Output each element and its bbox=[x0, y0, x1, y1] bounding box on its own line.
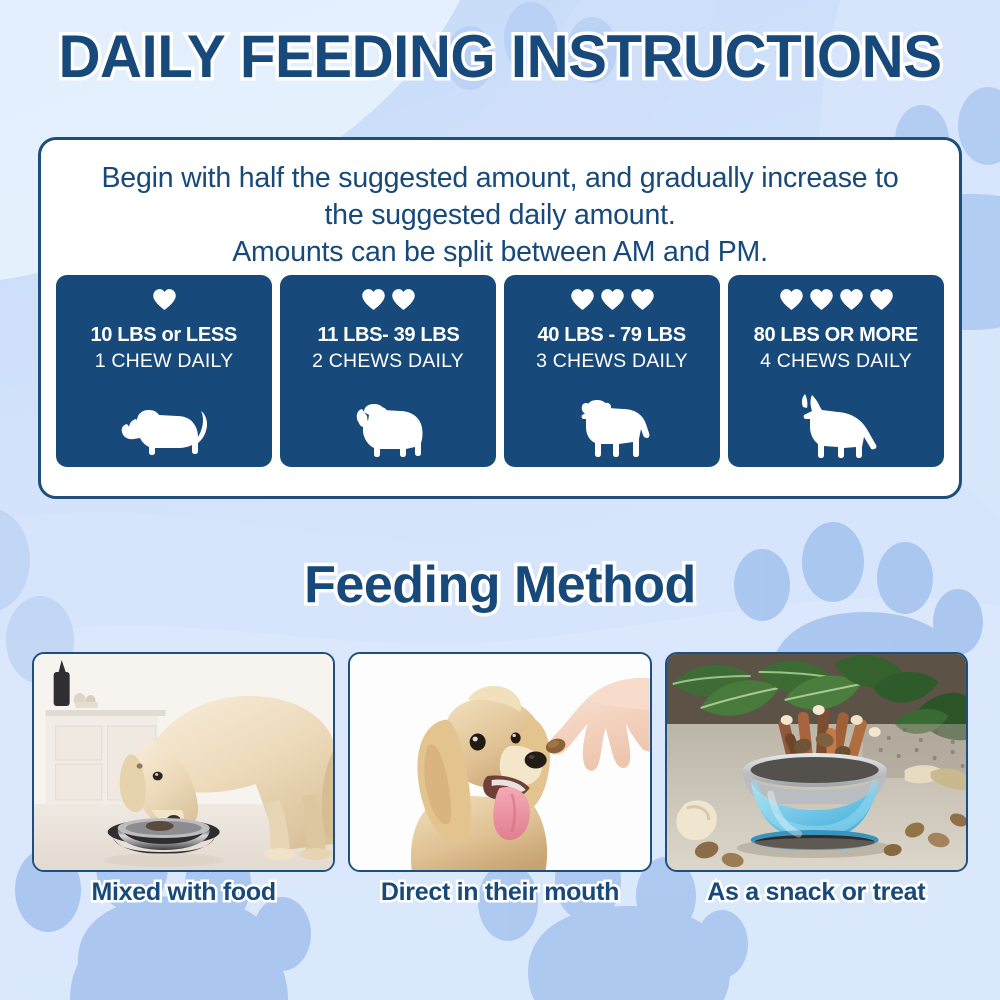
dosage-card: 40 LBS - 79 LBS 3 CHEWS DAILY bbox=[504, 275, 720, 467]
page-title: DAILY FEEDING INSTRUCTIONS bbox=[15, 22, 985, 91]
dosage-amount-label: 1 CHEW DAILY bbox=[95, 350, 234, 373]
section-title-feeding-method: Feeding Method bbox=[0, 555, 1000, 615]
heart-icon bbox=[779, 287, 804, 312]
instructions-panel: Begin with half the suggested amount, an… bbox=[38, 137, 962, 499]
dosage-weight-label: 80 LBS OR MORE bbox=[754, 323, 918, 347]
dosage-card-list: 10 LBS or LESS 1 CHEW DAILY 11 LBS- 39 L… bbox=[56, 275, 944, 467]
feeding-method-caption-row: Mixed with food Direct in their mouth As… bbox=[32, 878, 968, 918]
dosage-weight-label: 11 LBS- 39 LBS bbox=[317, 323, 459, 347]
caption-snack-or-treat: As a snack or treat bbox=[665, 878, 968, 918]
photo-mixed-with-food bbox=[32, 652, 335, 872]
shepherd-silhouette-icon bbox=[786, 393, 886, 459]
heart-icon bbox=[152, 287, 177, 312]
heart-icon bbox=[361, 287, 386, 312]
dosage-amount-label: 4 CHEWS DAILY bbox=[760, 350, 912, 373]
beagle-silhouette-icon bbox=[115, 401, 213, 459]
dosage-weight-label: 10 LBS or LESS bbox=[91, 323, 237, 347]
feeding-method-photo-row bbox=[32, 652, 968, 872]
photo-direct-in-mouth bbox=[348, 652, 651, 872]
dosage-card: 11 LBS- 39 LBS 2 CHEWS DAILY bbox=[280, 275, 496, 467]
dosage-amount-label: 2 CHEWS DAILY bbox=[312, 350, 464, 373]
heart-icon bbox=[391, 287, 416, 312]
instructions-text: Begin with half the suggested amount, an… bbox=[41, 160, 959, 271]
heart-rating bbox=[570, 284, 655, 314]
heart-rating bbox=[152, 284, 177, 314]
heart-icon bbox=[869, 287, 894, 312]
heart-rating bbox=[779, 284, 894, 314]
instructions-line-1: Begin with half the suggested amount, an… bbox=[41, 160, 959, 197]
boxer-silhouette-icon bbox=[569, 395, 655, 459]
photo-snack-or-treat bbox=[665, 652, 968, 872]
heart-icon bbox=[570, 287, 595, 312]
dosage-card: 80 LBS OR MORE 4 CHEWS DAILY bbox=[728, 275, 944, 467]
heart-icon bbox=[809, 287, 834, 312]
instructions-line-3: Amounts can be split between AM and PM. bbox=[41, 234, 959, 271]
caption-direct-in-mouth: Direct in their mouth bbox=[348, 878, 651, 918]
dosage-weight-label: 40 LBS - 79 LBS bbox=[538, 323, 686, 347]
dosage-amount-label: 3 CHEWS DAILY bbox=[536, 350, 688, 373]
instructions-line-2: the suggested daily amount. bbox=[41, 197, 959, 234]
dosage-card: 10 LBS or LESS 1 CHEW DAILY bbox=[56, 275, 272, 467]
heart-icon bbox=[600, 287, 625, 312]
caption-mixed-with-food: Mixed with food bbox=[32, 878, 335, 918]
heart-icon bbox=[839, 287, 864, 312]
bulldog-silhouette-icon bbox=[348, 397, 428, 459]
heart-rating bbox=[361, 284, 416, 314]
heart-icon bbox=[630, 287, 655, 312]
